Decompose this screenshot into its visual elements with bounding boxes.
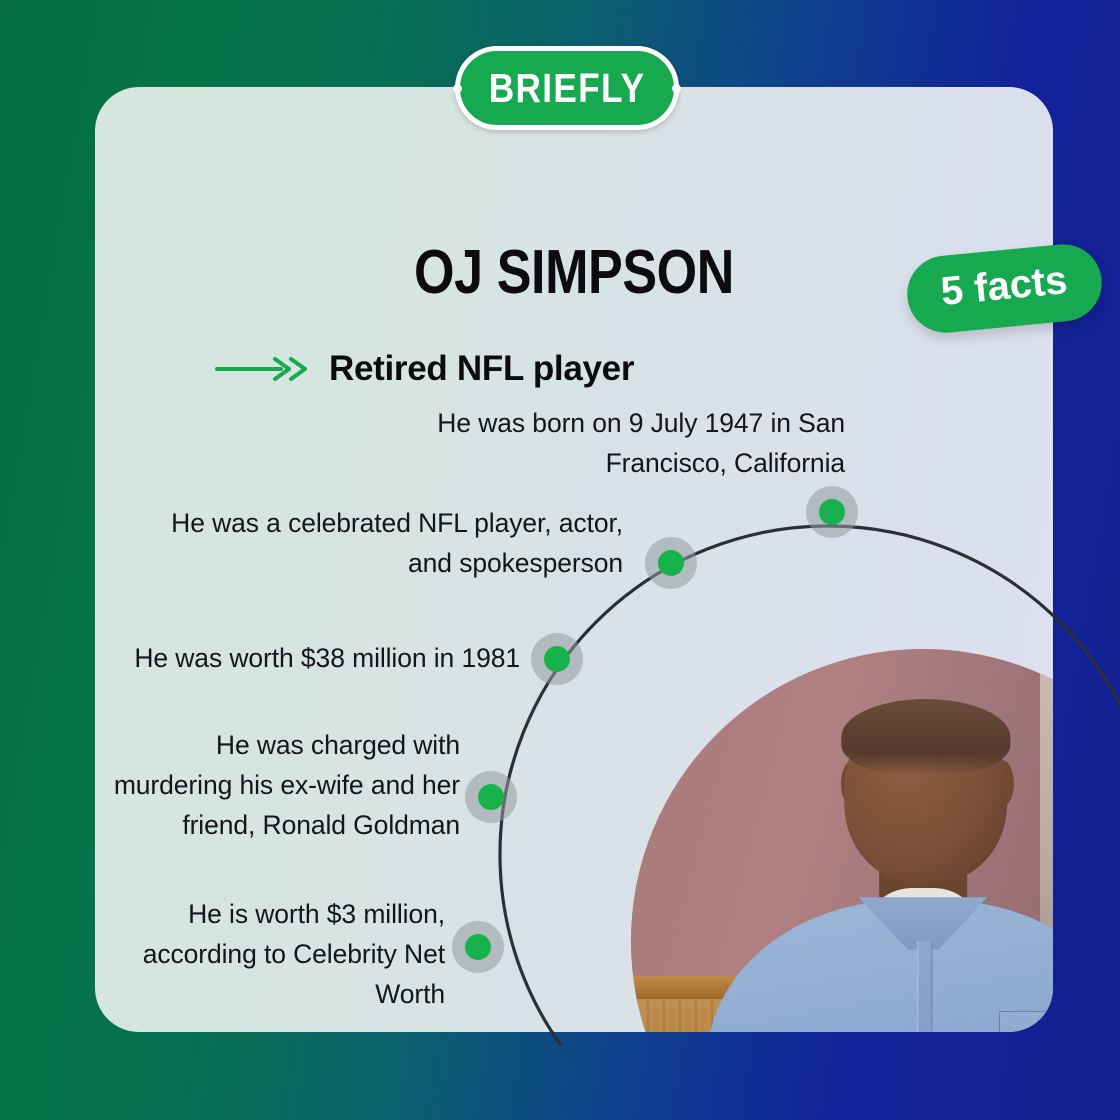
- node-dot: [819, 499, 845, 525]
- fact-item: He was worth $38 million in 1981: [100, 639, 520, 679]
- infographic-canvas: OJ SIMPSON Retired NFL player: [0, 0, 1120, 1120]
- fact-line: He was charged with: [75, 726, 460, 766]
- node-dot: [544, 646, 570, 672]
- fact-item: He was a celebrated NFL player, actor, a…: [120, 504, 623, 584]
- brand-name: BRIEFLY: [489, 65, 646, 112]
- fact-line: He was a celebrated NFL player, actor,: [120, 504, 623, 544]
- subtitle-row: Retired NFL player: [215, 349, 634, 389]
- arrow-right-double-chevron-icon: [215, 356, 311, 382]
- node-dot: [658, 550, 684, 576]
- fact-line: and spokesperson: [120, 544, 623, 584]
- fact-item: He is worth $3 million, according to Cel…: [100, 895, 445, 1014]
- bullet-dot-icon: [453, 84, 462, 93]
- fact-line: Francisco, California: [330, 444, 845, 484]
- brand-logo: BRIEFLY: [455, 46, 679, 130]
- fact-line: murdering his ex-wife and her: [75, 766, 460, 806]
- figure-shirt-placket: [917, 941, 932, 1032]
- node-dot: [465, 934, 491, 960]
- node-dot: [478, 784, 504, 810]
- fact-line: Worth: [100, 975, 445, 1015]
- fact-item: He was charged with murdering his ex-wif…: [75, 726, 460, 845]
- page-title: OJ SIMPSON: [172, 237, 977, 308]
- photo-figure: [631, 649, 1053, 1032]
- portrait-photo: [631, 649, 1053, 1032]
- fact-line: He was born on 9 July 1947 in San: [330, 404, 845, 444]
- fact-line: He was worth $38 million in 1981: [100, 639, 520, 679]
- fact-line: He is worth $3 million,: [100, 895, 445, 935]
- subtitle-text: Retired NFL player: [329, 349, 634, 389]
- figure-hair: [841, 699, 1010, 775]
- fact-item: He was born on 9 July 1947 in San Franci…: [330, 404, 845, 484]
- portrait-image: [631, 649, 1053, 1032]
- figure-shirt-pocket: [999, 1011, 1053, 1032]
- fact-line: according to Celebrity Net: [100, 935, 445, 975]
- fact-line: friend, Ronald Goldman: [75, 806, 460, 846]
- bullet-dot-icon: [672, 84, 681, 93]
